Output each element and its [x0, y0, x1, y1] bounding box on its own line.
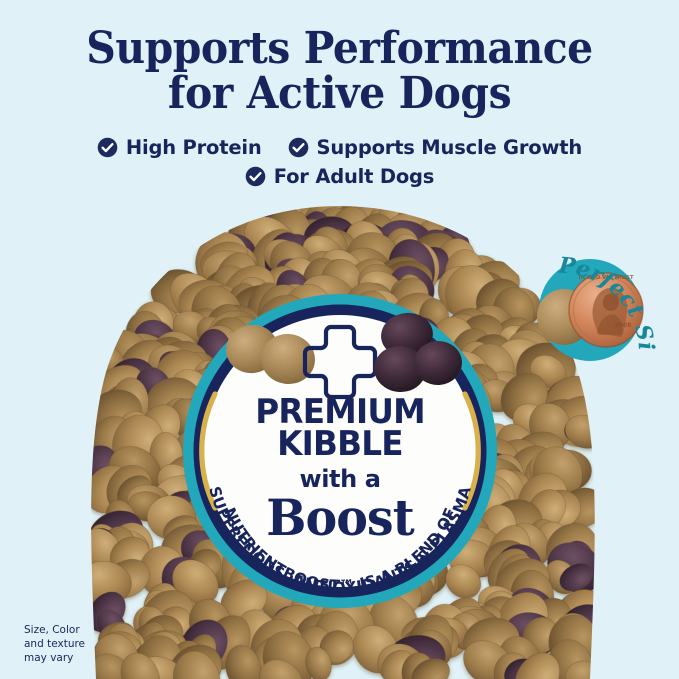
headline-line-1: Supports Performance	[86, 23, 593, 74]
product-infographic: Supports Performance for Active Dogs Hig…	[0, 0, 679, 679]
bullet-item-adult-dogs: For Adult Dogs	[245, 165, 434, 188]
feature-bullet-list: High Protein Supports Muscle Growth For …	[0, 136, 679, 194]
bullet-row-2: For Adult Dogs	[0, 165, 679, 188]
premium-kibble-badge: NUTRIENTBOOST™ IS A BLEND OF SUPERFOODS,…	[182, 293, 498, 609]
bullet-row-1: High Protein Supports Muscle Growth	[0, 136, 679, 159]
badge-emphasis: Boost	[190, 488, 490, 547]
check-circle-icon	[245, 166, 266, 187]
disclaimer-line-1: Size, Color	[24, 624, 85, 638]
disclaimer-line-3: may vary	[24, 652, 85, 666]
perfect-size-callout: IN GOD WE TRUST 2008 Perfect Size!	[487, 205, 679, 370]
bullet-label: High Protein	[126, 136, 262, 159]
bullet-label: Supports Muscle Growth	[317, 136, 583, 159]
disclaimer-line-2: and texture	[24, 638, 85, 652]
headline-line-2: for Active Dogs	[24, 71, 655, 116]
bullet-label: For Adult Dogs	[274, 165, 434, 188]
check-circle-icon	[97, 137, 118, 158]
check-circle-icon	[288, 137, 309, 158]
page-title: Supports Performance for Active Dogs	[24, 26, 655, 117]
disclaimer-text: Size, Color and texture may vary	[24, 624, 85, 666]
badge-title-line-2: KIBBLE	[188, 424, 491, 464]
bullet-item-muscle-growth: Supports Muscle Growth	[288, 136, 583, 159]
bullet-item-high-protein: High Protein	[97, 136, 262, 159]
